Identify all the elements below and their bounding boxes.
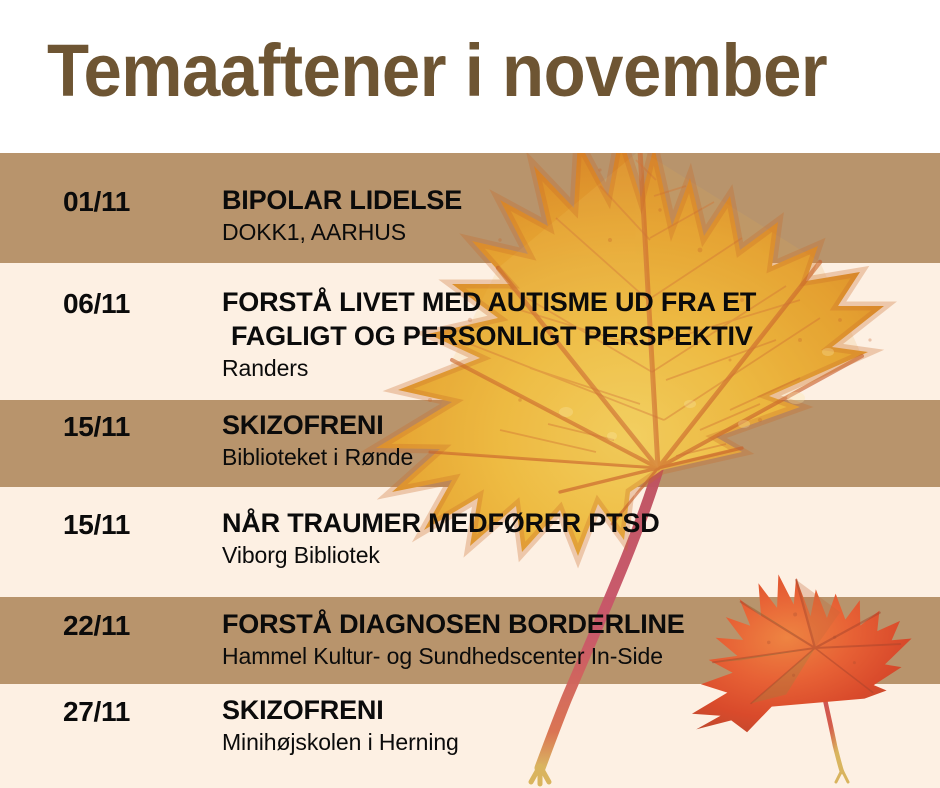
event-row[interactable]: 27/11 SKIZOFRENI Minihøjskolen i Herning [0, 684, 940, 788]
event-body: SKIZOFRENI Minihøjskolen i Herning [222, 693, 922, 757]
event-venue: Minihøjskolen i Herning [222, 727, 922, 757]
event-body: SKIZOFRENI Biblioteket i Rønde [222, 408, 922, 472]
event-venue: DOKK1, AARHUS [222, 217, 922, 247]
event-date: 01/11 [63, 186, 130, 218]
event-venue: Hammel Kultur- og Sundhedscenter In-Side [222, 641, 922, 671]
event-date: 15/11 [63, 411, 130, 443]
event-venue: Viborg Bibliotek [222, 540, 922, 570]
page-title: Temaaftener i november [47, 28, 827, 114]
event-body: FORSTÅ DIAGNOSEN BORDERLINE Hammel Kultu… [222, 607, 922, 671]
event-title: SKIZOFRENI [222, 408, 922, 442]
event-body: NÅR TRAUMER MEDFØRER PTSD Viborg Bibliot… [222, 506, 922, 570]
poster-header: Temaaftener i november [0, 0, 940, 153]
event-date: 22/11 [63, 610, 130, 642]
event-body: FORSTÅ LIVET MED AUTISME UD FRA ET FAGLI… [222, 285, 922, 383]
event-row[interactable]: 15/11 NÅR TRAUMER MEDFØRER PTSD Viborg B… [0, 487, 940, 597]
event-title: SKIZOFRENI [222, 693, 922, 727]
event-title-line-2: FAGLIGT OG PERSONLIGT PERSPEKTIV [222, 319, 922, 353]
event-venue: Randers [222, 353, 922, 383]
event-date: 15/11 [63, 509, 130, 541]
event-title-line-1: FORSTÅ LIVET MED AUTISME UD FRA ET [222, 285, 922, 319]
event-venue: Biblioteket i Rønde [222, 442, 922, 472]
event-row[interactable]: 22/11 FORSTÅ DIAGNOSEN BORDERLINE Hammel… [0, 597, 940, 684]
event-title: BIPOLAR LIDELSE [222, 183, 922, 217]
poster-canvas: Temaaftener i november 01/11 BIPOLAR LID… [0, 0, 940, 788]
event-row[interactable]: 01/11 BIPOLAR LIDELSE DOKK1, AARHUS [0, 153, 940, 263]
event-date: 27/11 [63, 696, 130, 728]
event-date: 06/11 [63, 288, 130, 320]
event-row[interactable]: 06/11 FORSTÅ LIVET MED AUTISME UD FRA ET… [0, 263, 940, 400]
event-title: FORSTÅ DIAGNOSEN BORDERLINE [222, 607, 922, 641]
event-row[interactable]: 15/11 SKIZOFRENI Biblioteket i Rønde [0, 400, 940, 487]
event-body: BIPOLAR LIDELSE DOKK1, AARHUS [222, 183, 922, 247]
event-title: NÅR TRAUMER MEDFØRER PTSD [222, 506, 922, 540]
